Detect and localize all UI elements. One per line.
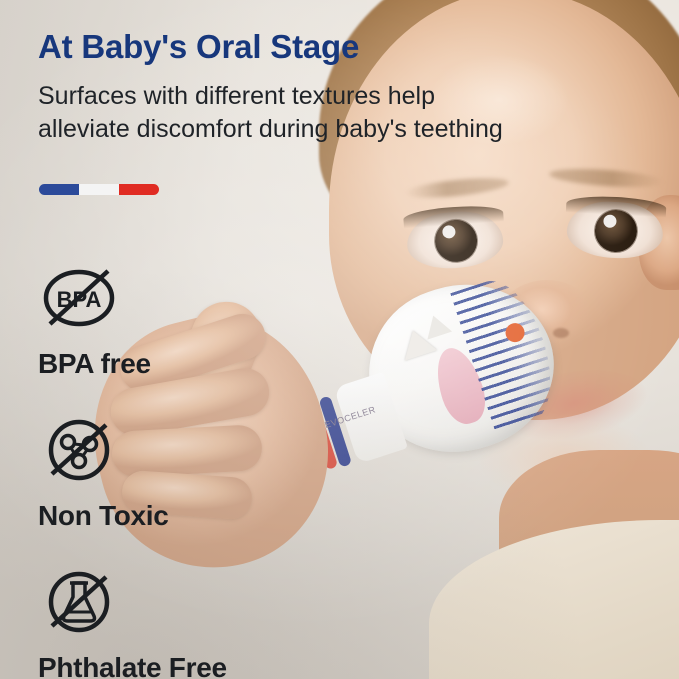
tricolor-blue bbox=[39, 184, 79, 195]
feature-item-bpa-free: BPA BPA free bbox=[38, 262, 338, 380]
headline: At Baby's Oral Stage bbox=[38, 28, 359, 66]
feature-item-non-toxic: Non Toxic bbox=[38, 414, 338, 532]
subtitle-line-1: Surfaces with different textures help bbox=[38, 80, 658, 113]
feature-label-phthalate-free: Phthalate Free bbox=[38, 652, 338, 679]
feature-list: BPA BPA free Non Toxic bbox=[38, 262, 338, 679]
french-tricolor-divider bbox=[39, 184, 159, 195]
product-infographic: EVOCELER At Baby's Oral Stage Surfaces w… bbox=[0, 0, 679, 679]
bpa-free-icon: BPA bbox=[40, 262, 338, 339]
subtitle-line-2: alleviate discomfort during baby's teeth… bbox=[38, 113, 658, 146]
feature-item-phthalate-free: Phthalate Free bbox=[38, 566, 338, 679]
phthalate-free-icon bbox=[40, 566, 338, 643]
non-toxic-icon bbox=[40, 414, 338, 491]
tricolor-red bbox=[119, 184, 159, 195]
feature-label-bpa-free: BPA free bbox=[38, 348, 338, 380]
tricolor-white bbox=[79, 184, 119, 195]
feature-label-non-toxic: Non Toxic bbox=[38, 500, 338, 532]
subtitle: Surfaces with different textures help al… bbox=[38, 80, 658, 146]
